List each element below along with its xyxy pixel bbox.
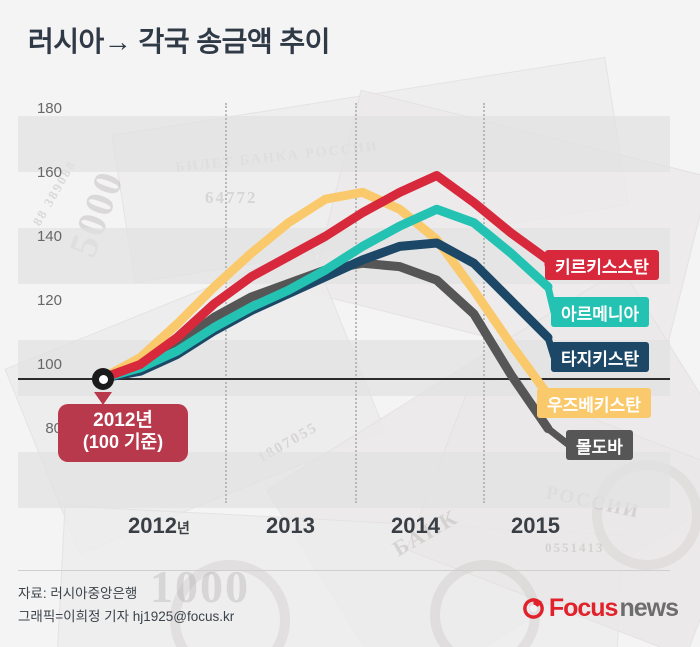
footer-credit: 그래픽=이희정 기자 hj1925@focus.kr [18, 605, 234, 629]
legend-item-armenia[interactable]: 아르메니아 [551, 297, 649, 327]
footer-source: 자료: 러시아중앙은행 [18, 582, 234, 606]
footer-divider [18, 570, 670, 571]
legend-label: 우즈베키스탄 [547, 391, 641, 416]
series-line-우즈베키스탄 [103, 192, 548, 395]
legend-item-tajikistan[interactable]: 타지키스탄 [551, 342, 649, 372]
focus-swirl-icon [522, 597, 545, 620]
x-axis-tick-2012-year: 2012 [128, 513, 177, 538]
legend-item-uzbekistan[interactable]: 우즈베키스탄 [537, 388, 651, 418]
x-axis-tick-2012-suffix: 년 [177, 520, 190, 536]
origin-marker-dot [92, 368, 114, 390]
x-axis-tick-2014: 2014 [391, 513, 440, 539]
legend-item-kyrgyzstan[interactable]: 키르키스스탄 [545, 250, 659, 280]
baseline-callout: 2012년 (100 기준) [58, 404, 188, 462]
logo-news-text: news [619, 594, 678, 623]
focus-news-logo[interactable]: Focus news [522, 594, 678, 623]
infographic-root: 1000 5000 64772 1807055 0551413 88 38908… [0, 0, 700, 647]
legend-label: 아르메니아 [561, 300, 639, 325]
legend-label: 몰도바 [576, 433, 623, 458]
legend-label: 타지키스탄 [561, 345, 639, 370]
logo-focus-text: Focus [549, 594, 618, 623]
legend-label: 키르키스스탄 [555, 253, 649, 278]
legend-item-moldova[interactable]: 몰도바 [566, 430, 633, 460]
x-axis-tick-2015: 2015 [511, 513, 560, 539]
callout-line-2: (100 기준) [72, 432, 174, 453]
x-axis-tick-2012: 2012년 [128, 513, 190, 539]
footer-text: 자료: 러시아중앙은행 그래픽=이희정 기자 hj1925@focus.kr [18, 582, 234, 629]
callout-line-1: 2012년 [72, 410, 174, 432]
x-axis-tick-2013: 2013 [266, 513, 315, 539]
